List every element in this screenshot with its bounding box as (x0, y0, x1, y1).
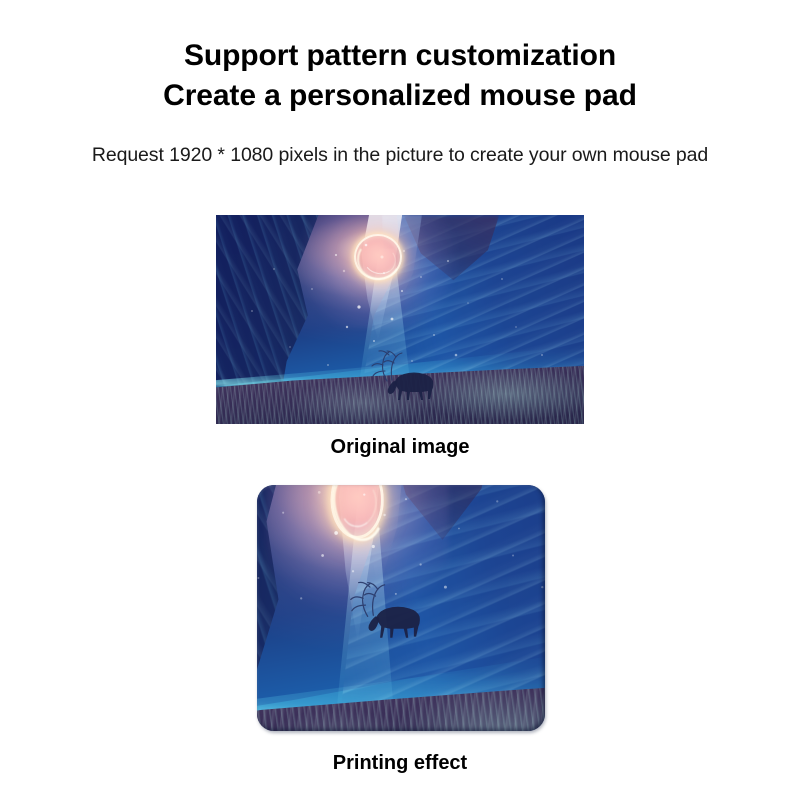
heading-block: Support pattern customization Create a p… (0, 36, 800, 115)
page-title-line-1: Support pattern customization (0, 36, 800, 76)
printing-effect-figure (257, 485, 545, 731)
artwork-deer-silhouette (216, 215, 584, 424)
original-image-figure (216, 215, 584, 424)
artwork-deer-silhouette (257, 485, 545, 665)
original-image-caption: Original image (0, 436, 800, 459)
page-subtitle: Request 1920 * 1080 pixels in the pictur… (0, 144, 800, 167)
artwork-scene-original (216, 215, 584, 424)
artwork-scene-pad (257, 485, 545, 731)
printing-effect-caption: Printing effect (0, 752, 800, 775)
page-title-line-2: Create a personalized mouse pad (0, 76, 800, 116)
promo-page: Support pattern customization Create a p… (0, 0, 800, 800)
